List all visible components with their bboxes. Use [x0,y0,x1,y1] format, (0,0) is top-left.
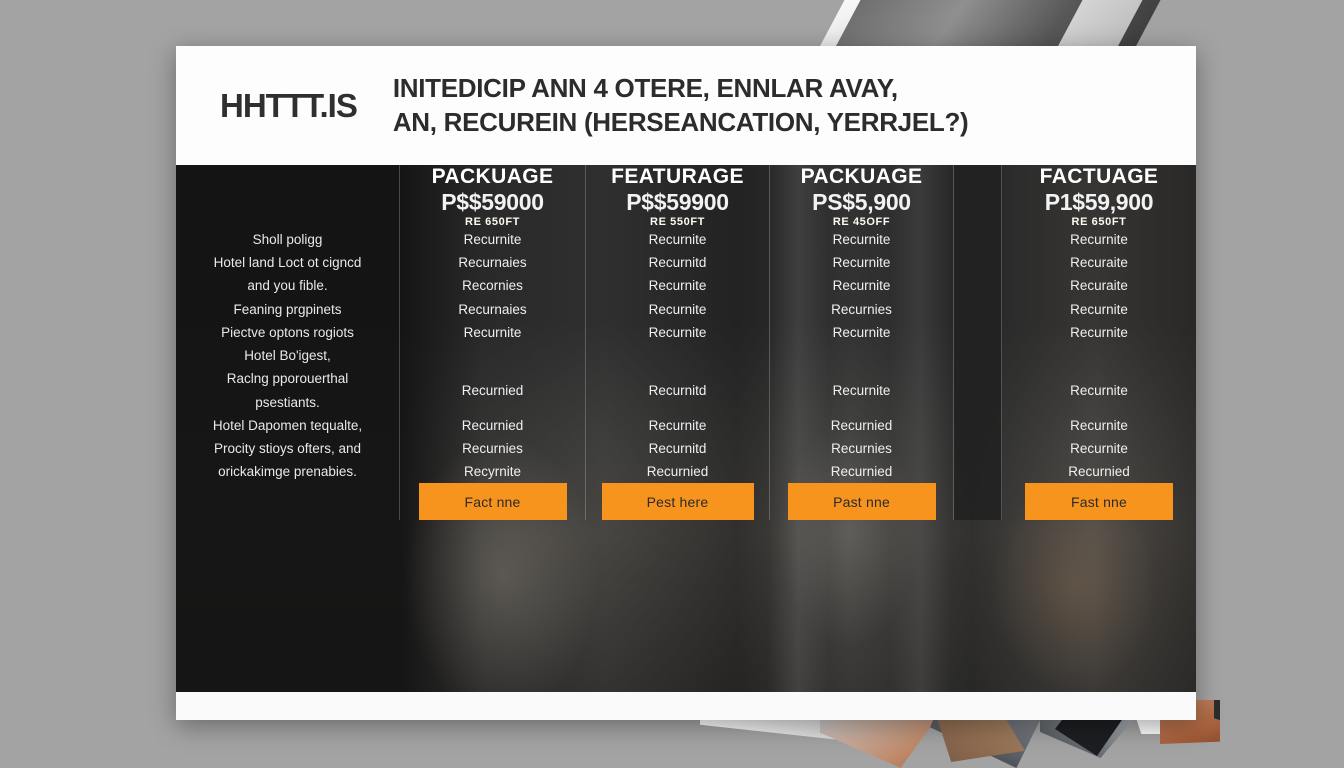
feature-value: Recurnied [462,414,524,437]
feature-label: Feaning prgpinets [233,298,341,321]
discount-badge: RE 650FT [1072,216,1127,228]
feature-label: Procity stioys ofters, andorickakimge pr… [214,437,361,483]
headline-block: INITEDICIP ANN 4 OTERE, ENNLAR AVAY, AN,… [393,74,969,136]
discount-badge: RE 45OFF [833,216,890,228]
feature-value: Recurnite [649,298,707,321]
feature-value: RecurniesRecyrnite [462,437,523,483]
badge-row-cell-2: RE 550FT [586,216,770,228]
cta-row-label-cell [176,483,400,520]
ribbon-white-stripe [817,0,889,52]
collage-shard [1214,700,1220,726]
feature-label: Hotel Bo'igest, [244,344,331,367]
card-footer [176,692,1196,720]
feature-row-4-cell-1 [400,344,586,367]
feature-row-2-cell-1: Recurnaies [400,298,586,321]
feature-row-1-spacer [954,228,1002,298]
feature-row-2-cell-2: Recurnite [586,298,770,321]
table-grid: PACKUAGEFEATURAGEPACKUAGEFACTUAGEP$$5900… [176,165,1196,692]
feature-value: Recurnies [831,298,892,321]
card-header: HHTTT.IS INITEDICIP ANN 4 OTERE, ENNLAR … [176,46,1196,165]
feature-value: Recurnite [1070,379,1128,402]
feature-row-7-spacer [954,437,1002,483]
feature-label: Hotel Dapomen tequalte, [213,414,362,437]
feature-value: Recurnite [1070,414,1128,437]
feature-row-7-cell-4: RecurniteRecurnied [1002,437,1196,483]
badge-row-label-cell [176,216,400,228]
cta-button-2[interactable]: Pest here [602,483,754,520]
headline-line-2: AN, RECUREIN (HERSEANCATION, YERRJEL?) [393,108,969,137]
package-name-row-label-cell [176,165,400,189]
package-name: FEATURAGE [611,165,744,189]
feature-row-2-cell-3: Recurnies [770,298,954,321]
feature-row-4-cell-3 [770,344,954,367]
feature-row-5-cell-2: Recurnitd [586,367,770,413]
feature-label: Piectve optons rogiots [221,321,354,344]
feature-row-2-label-cell: Feaning prgpinets [176,298,400,321]
feature-row-1-label-cell: Sholl poliggHotel land Loct ot cigncdand… [176,228,400,298]
feature-row-5-label-cell: Raclng pporouerthalpsestiants. [176,367,400,413]
feature-row-4-cell-4 [1002,344,1196,367]
feature-row-3-cell-1: Recurnite [400,321,586,344]
feature-row-1-cell-3: RecurniteRecurniteRecurnite [770,228,954,298]
price-row-spacer [954,189,1002,216]
package-name: PACKUAGE [432,165,554,189]
feature-value: RecurniteRecurnitdRecurnite [649,228,707,298]
feature-value: Recurnaies [458,298,526,321]
package-name-row-cell-4: FACTUAGE [1002,165,1196,189]
headline-line-1: INITEDICIP ANN 4 OTERE, ENNLAR AVAY, [393,74,969,103]
package-price: PS$5,900 [812,189,911,216]
ribbon-gray-band [833,0,1171,52]
feature-row-5-cell-1: Recurnied [400,367,586,413]
price-row-cell-2: P$$59900 [586,189,770,216]
feature-label: Raclng pporouerthalpsestiants. [227,367,349,413]
package-price: P$$59000 [441,189,543,216]
badge-row-cell-3: RE 45OFF [770,216,954,228]
discount-badge: RE 550FT [650,216,705,228]
package-price: P$$59900 [626,189,728,216]
feature-value: Recurnite [833,321,891,344]
feature-value: RecurnitdRecurnied [647,437,709,483]
feature-row-6-spacer [954,414,1002,437]
price-row-label-cell [176,189,400,216]
feature-row-6-cell-4: Recurnite [1002,414,1196,437]
feature-row-1-cell-1: RecurniteRecurnaiesRecornies [400,228,586,298]
feature-value: Recurnite [649,321,707,344]
feature-row-2-cell-4: Recurnite [1002,298,1196,321]
feature-row-7-cell-3: RecurniesRecurnied [770,437,954,483]
package-price: P1$59,900 [1045,189,1154,216]
cta-row-cell-4: Fast nne [1002,483,1196,520]
cta-row-spacer [954,483,1002,520]
cta-row-cell-2: Pest here [586,483,770,520]
feature-row-4-label-cell: Hotel Bo'igest, [176,344,400,367]
feature-row-7-cell-1: RecurniesRecyrnite [400,437,586,483]
price-row-cell-4: P1$59,900 [1002,189,1196,216]
feature-value: Recurnite [833,379,891,402]
cta-row-cell-1: Fact nne [400,483,586,520]
badge-row-cell-1: RE 650FT [400,216,586,228]
feature-row-3-label-cell: Piectve optons rogiots [176,321,400,344]
feature-row-6-cell-1: Recurnied [400,414,586,437]
feature-value: Recurnite [464,321,522,344]
feature-row-7-cell-2: RecurnitdRecurnied [586,437,770,483]
feature-value: Recurnite [1070,321,1128,344]
pricing-card: HHTTT.IS INITEDICIP ANN 4 OTERE, ENNLAR … [176,46,1196,720]
package-name-row-cell-2: FEATURAGE [586,165,770,189]
feature-row-1-cell-2: RecurniteRecurnitdRecurnite [586,228,770,298]
cta-button-1[interactable]: Fact nne [419,483,567,520]
cta-button-3[interactable]: Past nne [788,483,936,520]
comparison-table: PACKUAGEFEATURAGEPACKUAGEFACTUAGEP$$5900… [176,165,1196,692]
feature-row-1-cell-4: RecurniteRecuraiteRecuraite [1002,228,1196,298]
feature-value: Recurnite [649,414,707,437]
badge-row-spacer [954,216,1002,228]
feature-row-3-spacer [954,321,1002,344]
feature-row-3-cell-2: Recurnite [586,321,770,344]
package-name: PACKUAGE [801,165,923,189]
price-row-cell-1: P$$59000 [400,189,586,216]
feature-row-6-label-cell: Hotel Dapomen tequalte, [176,414,400,437]
price-row-cell-3: PS$5,900 [770,189,954,216]
feature-value: RecurniteRecurniteRecurnite [833,228,891,298]
feature-value: Recurnied [831,414,893,437]
feature-value: RecurniteRecurnied [1068,437,1130,483]
feature-value: RecurniesRecurnied [831,437,893,483]
feature-row-3-cell-4: Recurnite [1002,321,1196,344]
brand-logo: HHTTT.IS [220,87,357,125]
feature-value: Recurnitd [649,379,707,402]
ribbon-pale-band [1055,0,1153,52]
cta-row-cell-3: Past nne [770,483,954,520]
feature-row-3-cell-3: Recurnite [770,321,954,344]
feature-row-6-cell-3: Recurnied [770,414,954,437]
feature-value: RecurniteRecurnaiesRecornies [458,228,526,298]
cta-button-4[interactable]: Fast nne [1025,483,1173,520]
feature-row-4-cell-2 [586,344,770,367]
package-name-row-cell-1: PACKUAGE [400,165,586,189]
feature-label: Sholl poliggHotel land Loct ot cigncdand… [214,228,362,298]
feature-row-5-spacer [954,367,1002,413]
feature-row-5-cell-3: Recurnite [770,367,954,413]
package-name: FACTUAGE [1040,165,1159,189]
ribbon-dark-stripe [853,0,900,52]
feature-row-4-spacer [954,344,1002,367]
discount-badge: RE 650FT [465,216,520,228]
package-name-row-cell-3: PACKUAGE [770,165,954,189]
package-name-row-spacer [954,165,1002,189]
feature-value: Recurnied [462,379,524,402]
feature-row-6-cell-2: Recurnite [586,414,770,437]
feature-value: RecurniteRecuraiteRecuraite [1070,228,1128,298]
feature-row-7-label-cell: Procity stioys ofters, andorickakimge pr… [176,437,400,483]
badge-row-cell-4: RE 650FT [1002,216,1196,228]
feature-value: Recurnite [1070,298,1128,321]
feature-row-2-spacer [954,298,1002,321]
feature-row-5-cell-4: Recurnite [1002,367,1196,413]
